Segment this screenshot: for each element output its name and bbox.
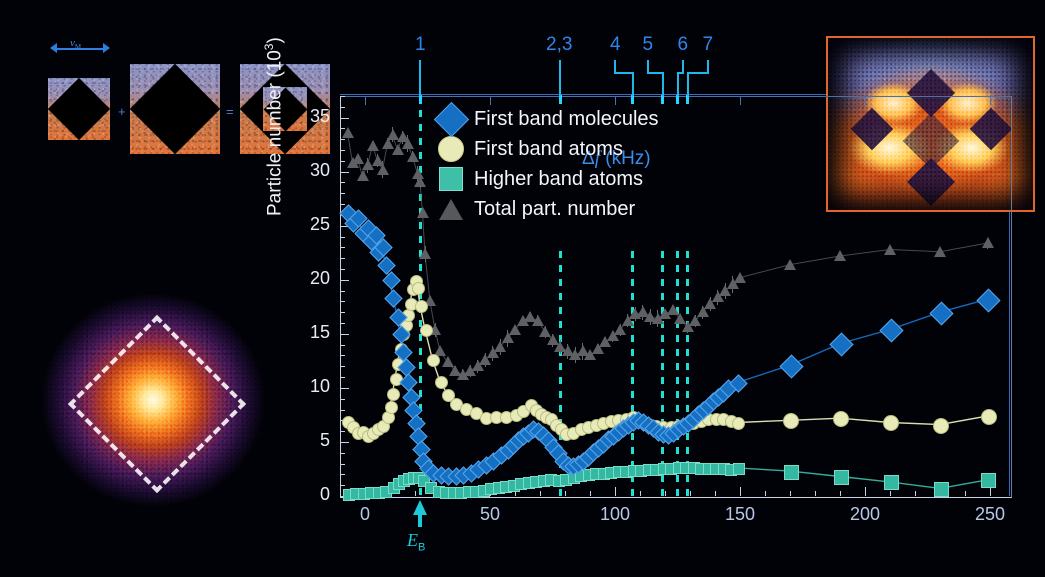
- data-point: [981, 473, 996, 488]
- resonance-axis-tick: [631, 95, 634, 104]
- resonance-axis-tick: [676, 95, 679, 104]
- legend-marker-circle-icon: [438, 136, 464, 162]
- scale-bar-right-arrow: [103, 43, 110, 53]
- data-point: [834, 250, 846, 261]
- x-tick-label: 200: [830, 504, 900, 525]
- resonance-axis-tick: [559, 95, 562, 104]
- figure-root: vM + =: [0, 0, 1045, 577]
- legend-label: First band molecules: [474, 108, 659, 131]
- resonance-axis-tick: [419, 95, 422, 104]
- resonance-label: 6: [678, 34, 689, 56]
- resonance-label: 4: [610, 34, 621, 56]
- resonance-leader: [615, 72, 633, 74]
- y-tick-label: 35: [290, 106, 330, 127]
- data-point: [385, 401, 398, 414]
- scale-bar: vM: [48, 42, 112, 56]
- inset-connector-top: [340, 94, 828, 95]
- plus-symbol: +: [118, 104, 126, 119]
- legend-marker: [428, 167, 474, 191]
- data-point: [784, 465, 799, 480]
- bz-panel-large: [130, 64, 220, 154]
- resonance-leader: [632, 72, 634, 96]
- data-point: [417, 207, 429, 218]
- data-point: [734, 272, 746, 283]
- data-point: [342, 127, 354, 138]
- legend-marker-diamond-icon: [433, 101, 468, 136]
- resonance-label: 5: [643, 34, 654, 56]
- data-point: [834, 470, 849, 485]
- legend-item: Total part. number: [428, 194, 659, 224]
- x-tick-label: 250: [955, 504, 1025, 525]
- resonance-axis-tick: [686, 95, 689, 104]
- y-tick-label: 20: [290, 268, 330, 289]
- resonance-leader: [688, 72, 708, 74]
- momentum-distribution-image: [28, 275, 278, 525]
- resonance-axis-tick: [661, 95, 664, 104]
- legend-label: First band atoms: [474, 138, 623, 161]
- legend-item: Higher band atoms: [428, 164, 659, 194]
- resonance-label: 2,3: [546, 34, 572, 56]
- data-point: [933, 418, 949, 434]
- data-point: [982, 237, 994, 248]
- resonance-leader: [662, 72, 664, 96]
- data-point: [357, 170, 369, 181]
- data-point: [387, 388, 400, 401]
- resonance-leader: [677, 72, 679, 96]
- legend-marker-square-icon: [439, 167, 463, 191]
- data-point: [733, 463, 745, 475]
- resonance-label: 1: [415, 34, 426, 56]
- legend: First band moleculesFirst band atomsHigh…: [428, 104, 659, 224]
- data-point: [415, 300, 428, 313]
- data-point: [884, 244, 896, 255]
- equals-symbol: =: [226, 104, 234, 119]
- data-point: [402, 138, 414, 149]
- data-point: [420, 324, 433, 337]
- legend-label: Higher band atoms: [474, 168, 643, 191]
- data-point: [414, 176, 426, 187]
- y-tick-label: 15: [290, 322, 330, 343]
- x-tick-label: 50: [455, 504, 525, 525]
- binding-energy-arrow-stem: [418, 513, 422, 527]
- data-point: [732, 417, 745, 430]
- resonance-leader: [559, 60, 561, 96]
- y-axis-title: Particle number (103): [262, 37, 286, 216]
- x-tick-label: 100: [580, 504, 650, 525]
- x-tick-label: 150: [705, 504, 775, 525]
- y-tick-label: 30: [290, 160, 330, 181]
- legend-marker-triangle-icon: [439, 199, 463, 220]
- data-point: [934, 246, 946, 257]
- data-point: [435, 376, 448, 389]
- data-point: [784, 259, 796, 270]
- y-tick-label: 5: [290, 430, 330, 451]
- data-point: [377, 164, 389, 175]
- resonance-label: 7: [703, 34, 714, 56]
- legend-item: First band atoms: [428, 134, 659, 164]
- legend-marker: [428, 136, 474, 162]
- y-tick-label: 0: [290, 484, 330, 505]
- resonance-leader: [648, 72, 663, 74]
- data-point: [412, 282, 425, 295]
- legend-marker: [428, 199, 474, 220]
- legend-marker: [428, 107, 474, 132]
- data-point: [532, 315, 544, 326]
- y-tick-label: 25: [290, 214, 330, 235]
- legend-item: First band molecules: [428, 104, 659, 134]
- bz-panel-small: [48, 78, 110, 140]
- scale-bar-label: vM: [70, 37, 81, 51]
- y-tick-label: 10: [290, 376, 330, 397]
- data-point: [934, 482, 949, 497]
- data-point: [407, 151, 419, 162]
- data-point: [419, 248, 431, 259]
- resonance-leader: [687, 72, 689, 96]
- data-point: [981, 409, 997, 425]
- main-plot: 050100150200250 05101520253035 12,34567 …: [340, 96, 1010, 496]
- data-point: [884, 475, 899, 490]
- data-point: [367, 140, 379, 151]
- resonance-leader: [419, 60, 421, 96]
- legend-label: Total part. number: [474, 198, 635, 221]
- binding-energy-label: EB: [407, 530, 425, 554]
- brillouin-zone-triptych: vM + =: [30, 58, 270, 158]
- x-tick-label: 0: [330, 504, 400, 525]
